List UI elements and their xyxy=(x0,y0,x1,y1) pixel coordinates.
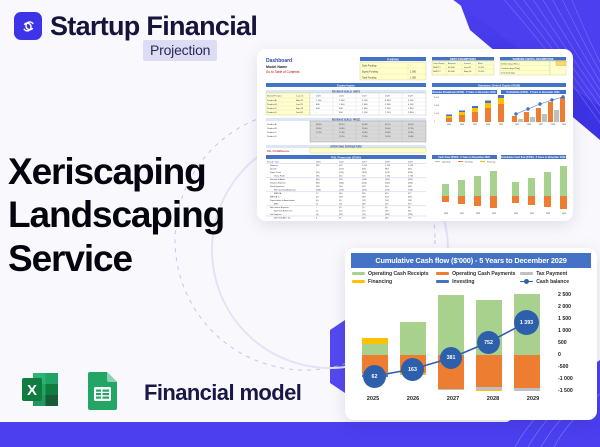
svg-text:Creditor days (Pay.): Creditor days (Pay.) xyxy=(501,67,521,70)
svg-text:Period / Year: Period / Year xyxy=(267,161,279,164)
svg-text:1 100: 1 100 xyxy=(362,112,368,114)
svg-text:38%: 38% xyxy=(408,197,412,199)
svg-text:Jan-26: Jan-26 xyxy=(464,67,471,69)
svg-text:13.80: 13.80 xyxy=(408,136,414,138)
svg-text:1 190: 1 190 xyxy=(385,176,391,178)
svg-text:1 600: 1 600 xyxy=(339,104,345,106)
headline-line-1: Xeriscaping xyxy=(8,150,258,193)
svg-text:X: X xyxy=(27,382,37,399)
google-sheets-icon xyxy=(78,366,126,419)
svg-text:(80): (80) xyxy=(316,183,320,185)
svg-text:(4): (4) xyxy=(408,207,411,209)
page-title: Xeriscaping Landscaping Service xyxy=(8,150,258,280)
svg-text:(95): (95) xyxy=(316,172,320,174)
svg-text:(50): (50) xyxy=(385,186,389,188)
svg-text:(810): (810) xyxy=(408,172,413,174)
svg-text:69%: 69% xyxy=(362,169,366,171)
svg-text:2 200: 2 200 xyxy=(385,108,391,110)
svg-text:2027: 2027 xyxy=(530,213,534,215)
svg-text:2027: 2027 xyxy=(460,213,464,215)
svg-text:Cash Flow ($'000) - 5 Years to: Cash Flow ($'000) - 5 Years to December … xyxy=(438,156,490,159)
svg-text:2025: 2025 xyxy=(447,124,451,126)
swirl-e-logo-icon xyxy=(14,12,42,40)
svg-text:2 900: 2 900 xyxy=(408,108,414,110)
headline-line-2: Landscaping xyxy=(8,193,258,236)
svg-text:(58): (58) xyxy=(408,186,412,188)
svg-text:(570): (570) xyxy=(385,190,390,192)
svg-text:(168): (168) xyxy=(316,190,321,192)
svg-text:(32): (32) xyxy=(339,214,343,216)
data-label-2027: 381 xyxy=(440,347,462,369)
svg-text:2026: 2026 xyxy=(460,124,464,126)
x-tick-2028: 2028 xyxy=(473,396,513,408)
svg-text:Mar-25: Mar-25 xyxy=(296,99,304,102)
svg-text:42.10: 42.10 xyxy=(385,124,391,126)
x-tick-2025: 2025 xyxy=(353,396,393,408)
svg-text:(7): (7) xyxy=(362,207,365,209)
svg-text:2027: 2027 xyxy=(362,96,368,98)
svg-text:19.00: 19.00 xyxy=(385,132,391,134)
svg-text:17.80: 17.80 xyxy=(339,132,345,134)
legend-item-operating-cash-receipts: Operating Cash Receipts xyxy=(352,271,434,277)
svg-text:Total Funding: Total Funding xyxy=(362,77,377,80)
svg-text:1 500: 1 500 xyxy=(362,108,368,110)
svg-text:1 000: 1 000 xyxy=(434,113,440,115)
svg-text:2025: 2025 xyxy=(515,124,519,126)
svg-text:68%: 68% xyxy=(385,169,389,171)
svg-text:2 400: 2 400 xyxy=(362,104,368,106)
svg-text:Profitability ($'000) - 5 Year: Profitability ($'000) - 5 Years to Decem… xyxy=(507,91,561,94)
svg-text:40 000: 40 000 xyxy=(448,67,455,69)
y-tick-0: 0 xyxy=(558,352,561,358)
svg-text:(200): (200) xyxy=(385,179,390,181)
svg-text:Product A: Product A xyxy=(267,99,277,102)
svg-text:1 000: 1 000 xyxy=(410,71,417,74)
svg-text:Product B: Product B xyxy=(267,103,277,106)
svg-text:2029: 2029 xyxy=(562,124,566,126)
svg-text:2028: 2028 xyxy=(486,124,490,126)
svg-text:Jan-26: Jan-26 xyxy=(296,112,303,114)
svg-text:38.50: 38.50 xyxy=(316,124,322,126)
svg-text:(35): (35) xyxy=(339,186,343,188)
y-tick-1000: 1 000 xyxy=(558,328,571,334)
svg-text:(4): (4) xyxy=(339,207,342,209)
legend-label-operating-cash-payments: Operating Cash Payments xyxy=(452,271,515,277)
legend-swatch-cash-balance xyxy=(520,281,533,283)
dashboard-preview-image: Dashboard Model Name Go to Table of Cont… xyxy=(260,52,570,220)
svg-text:Operating: Operating xyxy=(442,160,450,163)
legend-label-operating-cash-receipts: Operating Cash Receipts xyxy=(368,271,429,277)
svg-text:Debtor days (Rec.): Debtor days (Rec.) xyxy=(501,62,520,65)
svg-text:General & Admin: General & Admin xyxy=(270,178,285,181)
svg-text:Gross Profit: Gross Profit xyxy=(274,175,285,178)
svg-text:Net Profit After Tax: Net Profit After Tax xyxy=(274,217,291,220)
format-logos: X Financial model xyxy=(16,366,301,419)
svg-text:Amount: Amount xyxy=(448,62,456,65)
svg-text:EBITDA %: EBITDA % xyxy=(270,196,280,199)
svg-text:15.0%: 15.0% xyxy=(478,71,484,73)
svg-text:(753): (753) xyxy=(408,190,413,192)
svg-text:(95): (95) xyxy=(339,179,343,181)
svg-text:Sep-25: Sep-25 xyxy=(296,108,304,110)
svg-text:24.00: 24.00 xyxy=(316,128,322,130)
svg-text:2 400: 2 400 xyxy=(408,112,414,114)
svg-text:(570): (570) xyxy=(385,172,390,174)
svg-text:Product A: Product A xyxy=(267,123,277,126)
y-tick-2500: 2 500 xyxy=(558,292,571,298)
data-label-2026: 163 xyxy=(401,358,424,381)
y-tick-neg1000: -1 000 xyxy=(558,376,573,382)
svg-text:2026: 2026 xyxy=(514,213,518,215)
svg-text:18.40: 18.40 xyxy=(362,132,368,134)
svg-text:Salaries Expense: Salaries Expense xyxy=(270,183,286,185)
financial-model-label: Financial model xyxy=(144,380,301,406)
svg-text:3 000: 3 000 xyxy=(434,97,440,99)
svg-text:2028: 2028 xyxy=(476,213,480,215)
svg-text:DEBT ASSUMPTIONS: DEBT ASSUMPTIONS xyxy=(450,58,476,61)
svg-text:(6): (6) xyxy=(316,200,319,202)
svg-text:DEBT 1: DEBT 1 xyxy=(433,67,441,69)
microsoft-excel-icon: X xyxy=(16,366,64,419)
svg-text:2029: 2029 xyxy=(562,213,566,215)
svg-text:1 000: 1 000 xyxy=(410,77,417,80)
svg-text:Investing: Investing xyxy=(465,160,473,163)
data-label-2025: 62 xyxy=(363,365,386,388)
svg-text:17.25: 17.25 xyxy=(316,132,322,134)
y-tick-neg1500: -1 500 xyxy=(558,388,573,394)
svg-text:12.90: 12.90 xyxy=(362,136,368,138)
svg-text:24.90: 24.90 xyxy=(339,128,345,130)
svg-text:(150): (150) xyxy=(385,214,390,216)
svg-text:Equity Inputs: Equity Inputs xyxy=(337,83,355,87)
legend-item-cash-balance: Cash balance xyxy=(520,279,590,285)
svg-text:P&L / Profit&Revenue: P&L / Profit&Revenue xyxy=(267,150,290,153)
svg-text:2027: 2027 xyxy=(473,124,477,126)
legend-swatch-investing xyxy=(436,280,449,283)
svg-text:P&L Financials ($'000): P&L Financials ($'000) xyxy=(331,155,361,159)
svg-text:(70): (70) xyxy=(362,214,366,216)
y-tick-1500: 1 500 xyxy=(558,316,571,322)
svg-text:(430): (430) xyxy=(408,183,413,185)
svg-text:Product B: Product B xyxy=(267,127,277,130)
svg-text:Launch: Launch xyxy=(296,96,304,98)
x-tick-2029: 2029 xyxy=(513,396,553,408)
legend-swatch-tax-payment xyxy=(520,272,533,275)
svg-text:2 540: 2 540 xyxy=(408,165,414,167)
svg-text:Market/Product: Market/Product xyxy=(267,95,282,98)
svg-text:2026: 2026 xyxy=(527,124,531,126)
svg-text:(28): (28) xyxy=(316,186,320,188)
svg-text:3 300: 3 300 xyxy=(385,104,391,106)
svg-text:3 100: 3 100 xyxy=(362,100,368,102)
svg-text:6%: 6% xyxy=(316,197,319,199)
brand-name: Startup Financial xyxy=(50,13,257,40)
svg-text:2027: 2027 xyxy=(539,124,543,126)
svg-text:43.50: 43.50 xyxy=(408,124,414,126)
svg-text:Inventory days: Inventory days xyxy=(501,72,516,75)
svg-text:Loan Name: Loan Name xyxy=(433,63,445,65)
svg-text:Product C: Product C xyxy=(267,107,277,110)
data-label-2028: 752 xyxy=(477,331,500,354)
svg-text:2 000: 2 000 xyxy=(434,105,440,107)
svg-text:Net Interest Expense: Net Interest Expense xyxy=(270,206,290,209)
svg-text:12.50: 12.50 xyxy=(339,136,345,138)
svg-text:Financing: Financing xyxy=(487,161,495,163)
svg-text:Dashboard: Dashboard xyxy=(266,58,292,64)
legend-label-tax-payment: Tax Payment xyxy=(536,271,567,277)
svg-text:Product D: Product D xyxy=(267,135,277,138)
svg-text:39.70: 39.70 xyxy=(339,124,345,126)
svg-text:EBITDA: EBITDA xyxy=(274,192,282,195)
legend-label-cash-balance: Cash balance xyxy=(536,279,569,285)
svg-text:(220): (220) xyxy=(362,183,367,185)
chart-title: Cumulative Cash flow ($'000) - 5 Years t… xyxy=(351,253,591,268)
legend-label-investing: Investing xyxy=(452,279,474,285)
svg-text:May-26: May-26 xyxy=(464,71,472,73)
svg-text:1 730: 1 730 xyxy=(408,176,414,178)
svg-text:(42): (42) xyxy=(362,186,366,188)
svg-text:Model Name: Model Name xyxy=(266,65,287,69)
y-tick-500: 500 xyxy=(558,340,567,346)
svg-text:FUNDING: FUNDING xyxy=(387,57,399,61)
svg-text:Net Profit Before Tax: Net Profit Before Tax xyxy=(274,210,292,213)
svg-text:WORKING CAPITAL ASSUMPTIONS: WORKING CAPITAL ASSUMPTIONS xyxy=(513,58,554,61)
svg-text:2029: 2029 xyxy=(492,213,496,215)
y-tick-2000: 2 000 xyxy=(558,304,571,310)
svg-text:(210): (210) xyxy=(339,172,344,174)
chart-legend: Operating Cash Receipts Operating Cash P… xyxy=(352,271,590,285)
svg-text:25.60: 25.60 xyxy=(362,128,368,130)
y-tick-neg500: -500 xyxy=(558,364,568,370)
svg-text:Tax Expense: Tax Expense xyxy=(270,214,282,216)
svg-text:27.30: 27.30 xyxy=(408,128,414,130)
svg-text:2026: 2026 xyxy=(339,96,345,98)
legend-item-operating-cash-payments: Operating Cash Payments xyxy=(436,271,518,277)
brand-logo: Startup Financial xyxy=(14,12,257,40)
svg-text:2025: 2025 xyxy=(316,96,322,98)
svg-text:121%: 121% xyxy=(339,169,344,171)
svg-text:Net Operating Expenses: Net Operating Expenses xyxy=(274,189,296,192)
svg-text:EBIT: EBIT xyxy=(274,204,279,206)
svg-text:35%: 35% xyxy=(385,197,389,199)
svg-text:Growth: Growth xyxy=(270,168,276,171)
legend-item-tax-payment: Tax Payment xyxy=(520,271,590,277)
svg-text:Revenue Breakdown ($'000) - 5: Revenue Breakdown ($'000) - 5 Years to D… xyxy=(432,91,496,94)
svg-text:4 100: 4 100 xyxy=(408,104,414,106)
chart-x-axis: 2025 2026 2027 2028 2029 xyxy=(353,396,553,408)
svg-text:(15): (15) xyxy=(385,200,389,202)
svg-text:Depreciation & Amortisation: Depreciation & Amortisation xyxy=(270,199,295,202)
svg-text:2026: 2026 xyxy=(444,213,448,215)
svg-text:2028: 2028 xyxy=(385,96,391,98)
legend-label-financing: Financing xyxy=(368,279,392,285)
svg-text:Jun-25: Jun-25 xyxy=(296,104,303,106)
projection-badge: Projection xyxy=(143,40,217,61)
poster-canvas: Startup Financial Projection Xeriscaping… xyxy=(0,0,600,447)
svg-text:1 760: 1 760 xyxy=(385,165,391,167)
headline-line-3: Service xyxy=(8,237,258,280)
svg-text:(350): (350) xyxy=(362,172,367,174)
svg-text:(320): (320) xyxy=(385,183,390,185)
svg-text:(3): (3) xyxy=(316,214,319,216)
svg-text:(140): (140) xyxy=(339,183,344,185)
cumulative-cashflow-card: Cumulative Cash flow ($'000) - 5 Years t… xyxy=(345,248,597,420)
svg-text:(270): (270) xyxy=(339,190,344,192)
svg-text:DEBT 2: DEBT 2 xyxy=(433,71,441,73)
svg-text:2 300: 2 300 xyxy=(339,100,345,102)
svg-text:13.30: 13.30 xyxy=(385,136,391,138)
legend-swatch-financing xyxy=(352,280,365,283)
svg-text:Revenue: Revenue xyxy=(270,165,279,167)
svg-text:1 200: 1 200 xyxy=(316,100,322,102)
svg-text:(9): (9) xyxy=(339,200,342,202)
svg-text:Direct Costs: Direct Costs xyxy=(270,171,281,174)
legend-swatch-operating-cash-receipts xyxy=(352,272,365,275)
svg-text:26.40: 26.40 xyxy=(385,128,391,130)
legend-swatch-operating-cash-payments xyxy=(436,272,449,275)
svg-text:2029: 2029 xyxy=(408,96,414,98)
svg-text:Cumulative Cash flow ($'000) -: Cumulative Cash flow ($'000) - 5 Years t… xyxy=(501,156,566,159)
legend-item-financing: Financing xyxy=(352,279,434,285)
x-tick-2026: 2026 xyxy=(393,396,433,408)
legend-item-investing: Investing xyxy=(436,279,518,285)
svg-text:(18): (18) xyxy=(408,200,412,202)
svg-text:40.80: 40.80 xyxy=(362,124,368,126)
svg-text:(12): (12) xyxy=(362,200,366,202)
svg-text:44%: 44% xyxy=(408,169,412,171)
chart-plot-area: 62 163 381 752 1 393 xyxy=(353,294,553,392)
svg-text:5 200: 5 200 xyxy=(408,100,414,102)
svg-text:Rate: Rate xyxy=(478,62,483,65)
svg-text:Summary: Debt & Equity ($'000): Summary: Debt & Equity ($'000) xyxy=(478,83,520,87)
svg-text:2028: 2028 xyxy=(546,213,550,215)
svg-text:Product C: Product C xyxy=(267,131,277,134)
svg-text:Go to Table of Contents: Go to Table of Contents xyxy=(266,70,300,74)
svg-text:23%: 23% xyxy=(339,197,343,199)
svg-text:1 700: 1 700 xyxy=(385,112,391,114)
svg-text:(6): (6) xyxy=(385,207,388,209)
svg-text:12.0%: 12.0% xyxy=(478,67,484,69)
svg-text:2029: 2029 xyxy=(499,124,503,126)
svg-text:(239): (239) xyxy=(408,214,413,216)
data-label-2029: 1 393 xyxy=(514,310,539,335)
svg-text:(140): (140) xyxy=(362,179,367,181)
dashboard-preview-card: Dashboard Model Name Go to Table of Cont… xyxy=(257,49,573,221)
svg-text:Issued: Issued xyxy=(464,63,471,65)
svg-text:Debt Funding: Debt Funding xyxy=(362,65,377,68)
x-tick-2027: 2027 xyxy=(433,396,473,408)
svg-text:2028: 2028 xyxy=(551,124,555,126)
chart-y-axis: 2 500 2 000 1 500 1 000 500 0 -500 -1 00… xyxy=(558,292,596,392)
svg-text:(60): (60) xyxy=(316,179,320,181)
svg-text:(265): (265) xyxy=(408,179,413,181)
svg-text:Fixed Expenses: Fixed Expenses xyxy=(270,186,284,188)
svg-text:Equity Funding: Equity Funding xyxy=(362,71,379,74)
svg-text:19.60: 19.60 xyxy=(408,132,414,134)
svg-text:80 000: 80 000 xyxy=(448,71,455,73)
svg-text:28%: 28% xyxy=(362,197,366,199)
svg-text:4 000: 4 000 xyxy=(385,100,391,102)
svg-text:Product D: Product D xyxy=(267,111,277,114)
svg-text:(402): (402) xyxy=(362,190,367,192)
svg-text:1 050: 1 050 xyxy=(362,165,368,167)
